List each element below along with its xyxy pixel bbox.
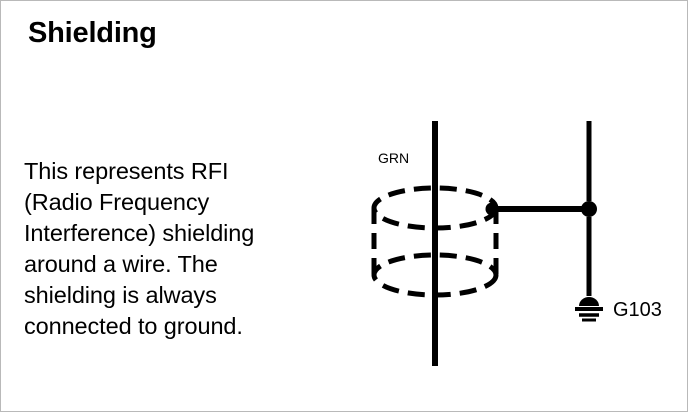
ground-label-g103: G103 [613, 299, 662, 321]
body-line: This represents RFI [24, 156, 344, 187]
shield-junction-dot [486, 203, 499, 216]
shielding-schematic: GRN G103 [351, 101, 686, 391]
page-title: Shielding [28, 18, 157, 48]
wire-label-grn: GRN [378, 150, 409, 166]
body-line: connected to ground. [24, 311, 344, 342]
body-line: Interference) shielding [24, 218, 344, 249]
body-paragraph: This represents RFI (Radio Frequency Int… [24, 156, 344, 342]
body-line: around a wire. The [24, 249, 344, 280]
body-line: shielding is always [24, 280, 344, 311]
ground-symbol-dome [579, 297, 599, 306]
body-line: (Radio Frequency [24, 187, 344, 218]
ground-junction-dot [581, 201, 597, 217]
slide-canvas: Shielding This represents RFI (Radio Fre… [0, 0, 688, 412]
